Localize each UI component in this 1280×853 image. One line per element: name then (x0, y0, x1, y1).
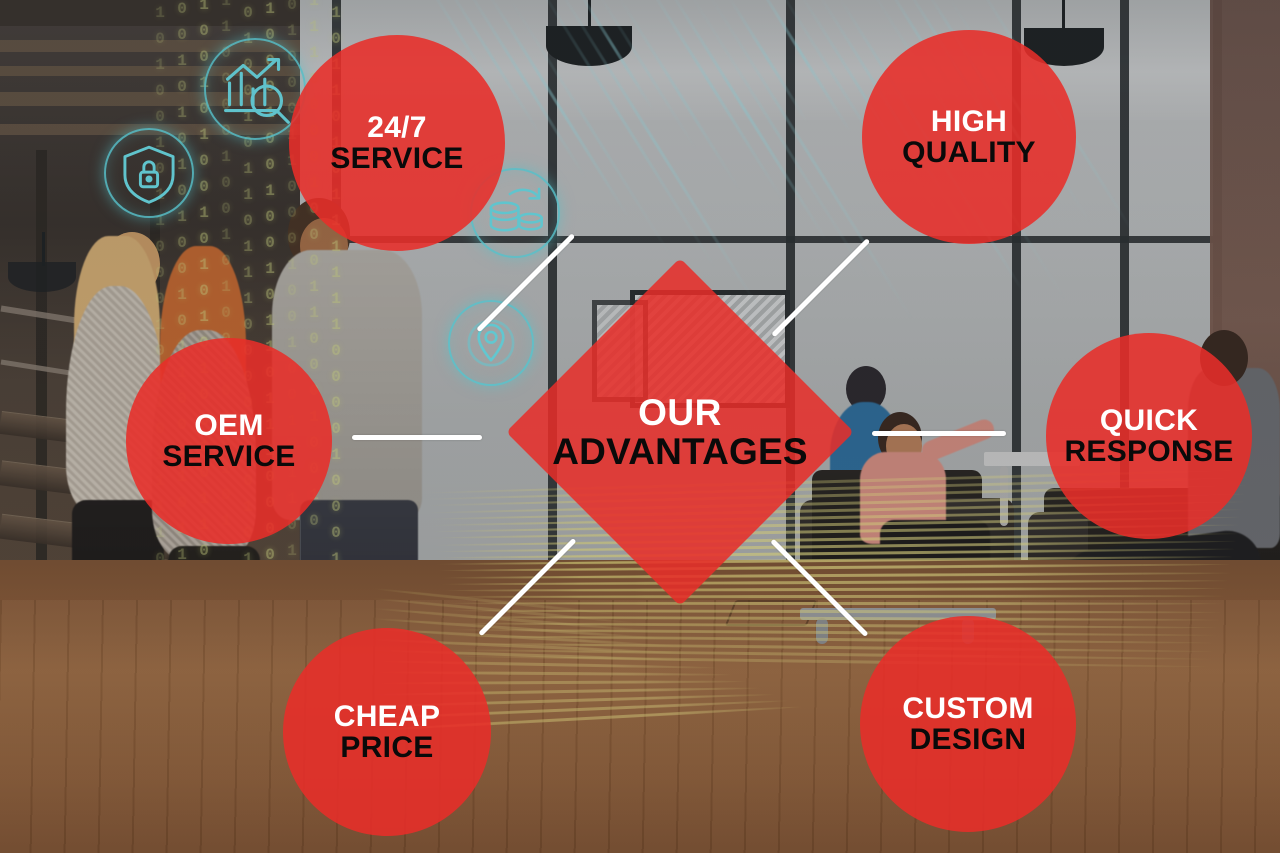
bubble-oem-service[interactable]: OEM SERVICE (126, 338, 332, 544)
bubble-line-1: CHEAP (334, 701, 441, 732)
bubble-service-247[interactable]: 24/7 SERVICE (289, 35, 505, 251)
connector-line-quick-response (872, 431, 1006, 436)
bubble-line-1: OEM (194, 410, 263, 441)
bubble-line-1: QUICK (1100, 405, 1198, 436)
bubble-line-2: SERVICE (330, 143, 463, 174)
bubble-line-1: HIGH (931, 106, 1007, 137)
bubble-line-2: SERVICE (162, 441, 295, 472)
bubble-line-1: 24/7 (367, 112, 427, 143)
bubble-line-2: DESIGN (910, 724, 1027, 755)
center-diamond[interactable]: OUR ADVANTAGES (557, 309, 803, 555)
center-line-2: ADVANTAGES (552, 433, 808, 471)
center-diamond-text: OUR ADVANTAGES (552, 394, 808, 470)
bubble-line-2: QUALITY (902, 137, 1036, 168)
center-line-1: OUR (552, 394, 808, 432)
bubble-quick-response[interactable]: QUICK RESPONSE (1046, 333, 1252, 539)
advantages-infographic: 1 0 1 0 0 1 0 1 1 0 0 0 1 0 1 1 0 1 1 1 … (0, 0, 1280, 853)
connector-line-oem-service (352, 435, 482, 440)
bubble-line-2: PRICE (340, 732, 433, 763)
bubble-line-2: RESPONSE (1064, 436, 1233, 467)
bubble-custom-design[interactable]: CUSTOM DESIGN (860, 616, 1076, 832)
bubble-cheap-price[interactable]: CHEAP PRICE (283, 628, 491, 836)
bubble-line-1: CUSTOM (902, 693, 1033, 724)
bubble-high-quality[interactable]: HIGH QUALITY (862, 30, 1076, 244)
